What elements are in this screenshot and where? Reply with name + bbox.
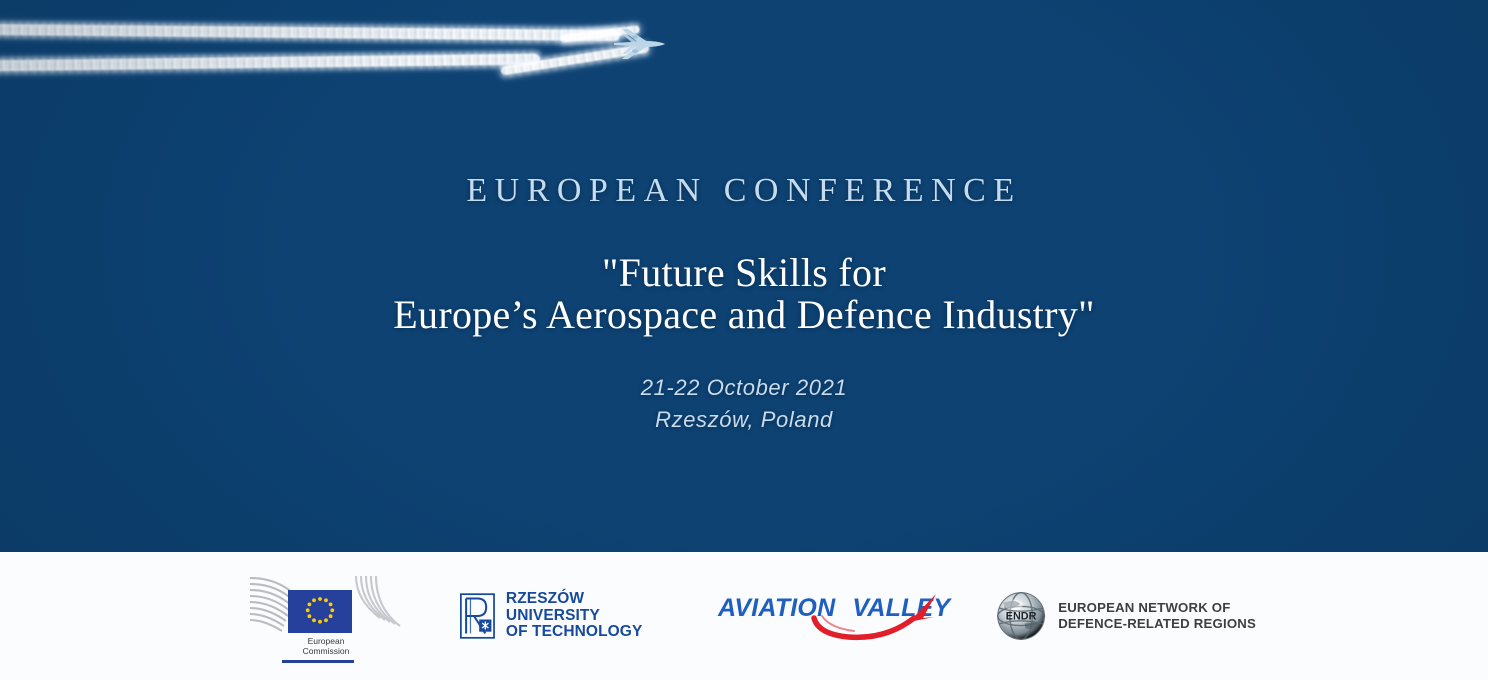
logo-endr: ENDR EUROPEAN NETWORK OF DEFENCE-RELATED… <box>996 587 1256 645</box>
conference-eyebrow: EUROPEAN CONFERENCE <box>0 172 1488 210</box>
logo-row: European Commission RZESZÓW UNIVERSITY O… <box>0 552 1488 680</box>
logo-aviation-valley: AVIATIONVALLEY <box>718 588 938 644</box>
endr-text-line-1: EUROPEAN NETWORK OF <box>1058 600 1256 617</box>
rut-text-line-2: OF TECHNOLOGY <box>506 624 660 641</box>
ec-caption: European Commission <box>280 636 372 656</box>
endr-text: EUROPEAN NETWORK OF DEFENCE-RELATED REGI… <box>1058 600 1256 633</box>
logo-european-commission: European Commission <box>250 568 402 664</box>
partner-logo-footer: European Commission RZESZÓW UNIVERSITY O… <box>0 552 1488 680</box>
hero-banner: EUROPEAN CONFERENCE "Future Skills for E… <box>0 0 1488 552</box>
event-date: 21-22 October 2021 <box>0 372 1488 404</box>
rut-monogram-icon <box>460 590 495 642</box>
rut-text: RZESZÓW UNIVERSITY OF TECHNOLOGY <box>506 591 660 641</box>
svg-text:ENDR: ENDR <box>1006 610 1037 622</box>
ec-caption-line-2: Commission <box>280 646 372 656</box>
event-meta: 21-22 October 2021 Rzeszów, Poland <box>0 372 1488 436</box>
title-line-2: Europe’s Aerospace and Defence Industry" <box>0 294 1488 335</box>
title-line-1: "Future Skills for <box>602 250 886 295</box>
hero-text-block: EUROPEAN CONFERENCE "Future Skills for E… <box>0 0 1488 552</box>
ec-underline <box>282 660 354 663</box>
eu-stars-icon <box>288 590 352 633</box>
rut-text-line-1: RZESZÓW UNIVERSITY <box>506 591 660 624</box>
logo-rzeszow-university: RZESZÓW UNIVERSITY OF TECHNOLOGY <box>460 590 660 642</box>
endr-globe-icon: ENDR <box>996 587 1046 645</box>
event-location: Rzeszów, Poland <box>0 404 1488 436</box>
av-swoosh-icon <box>718 588 940 644</box>
ec-caption-line-1: European <box>280 636 372 646</box>
page-title: "Future Skills for Europe’s Aerospace an… <box>0 252 1488 335</box>
eu-flag <box>288 590 352 633</box>
ec-swoosh-right-icon <box>354 574 402 636</box>
endr-text-line-2: DEFENCE-RELATED REGIONS <box>1058 616 1256 633</box>
